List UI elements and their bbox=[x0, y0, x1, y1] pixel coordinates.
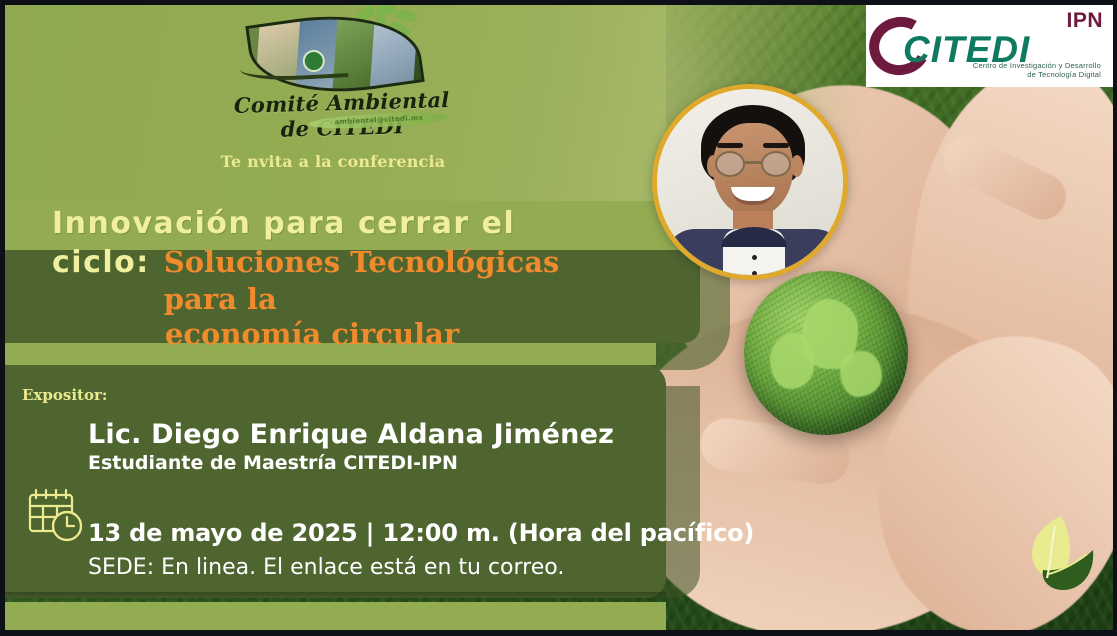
event-datetime: 13 de mayo de 2025 | 12:00 m. (Hora del … bbox=[88, 519, 754, 547]
eyeglasses-icon bbox=[761, 151, 791, 177]
citedi-subtitle-line2: de Tecnología Digital bbox=[1027, 70, 1101, 79]
citedi-logo-box: IPN CITEDI Centro de Investigación y Des… bbox=[866, 5, 1113, 87]
grass-globe bbox=[744, 271, 908, 435]
title-line1: Innovación para cerrar el bbox=[52, 205, 642, 243]
panel-shadow bbox=[0, 592, 666, 602]
continent-shape bbox=[770, 333, 814, 389]
frame-strip-right bbox=[1113, 0, 1117, 636]
speaker-role: Estudiante de Maestría CITEDI-IPN bbox=[88, 452, 458, 474]
eyeglasses-icon bbox=[715, 151, 745, 177]
title-ciclo: ciclo: bbox=[52, 245, 150, 280]
comite-ambiental-logo: Comité Ambiental de CITEDI ambiental@cit… bbox=[232, 6, 452, 136]
frame-strip-top bbox=[0, 0, 1117, 5]
calendar-clock-icon bbox=[26, 486, 84, 544]
speaker-label: Expositor: bbox=[22, 386, 107, 404]
frame-strip-left bbox=[0, 0, 5, 636]
footer-band bbox=[0, 602, 666, 630]
invitation-line: Te nvita a la conferencia bbox=[0, 152, 666, 171]
continent-shape bbox=[840, 351, 882, 397]
speaker-name: Lic. Diego Enrique Aldana Jiménez bbox=[88, 419, 614, 450]
citedi-subtitle-line1: Centro de Investigación y Desarrollo bbox=[973, 61, 1101, 70]
speaker-portrait bbox=[652, 84, 848, 280]
conference-title: Innovación para cerrar el ciclo: Solucio… bbox=[0, 205, 668, 351]
frame-strip-bottom bbox=[0, 630, 1117, 636]
title-line2: Soluciones Tecnológicas para la bbox=[164, 244, 642, 319]
title-line3: economía circular bbox=[52, 317, 642, 351]
event-venue: SEDE: En linea. El enlace está en tu cor… bbox=[88, 555, 564, 580]
citedi-ipn-label: IPN bbox=[1066, 9, 1103, 33]
citedi-logo: IPN CITEDI Centro de Investigación y Des… bbox=[869, 9, 1107, 83]
conference-poster: IPN CITEDI Centro de Investigación y Des… bbox=[0, 0, 1117, 636]
leaf-logo-icon bbox=[1021, 512, 1099, 600]
